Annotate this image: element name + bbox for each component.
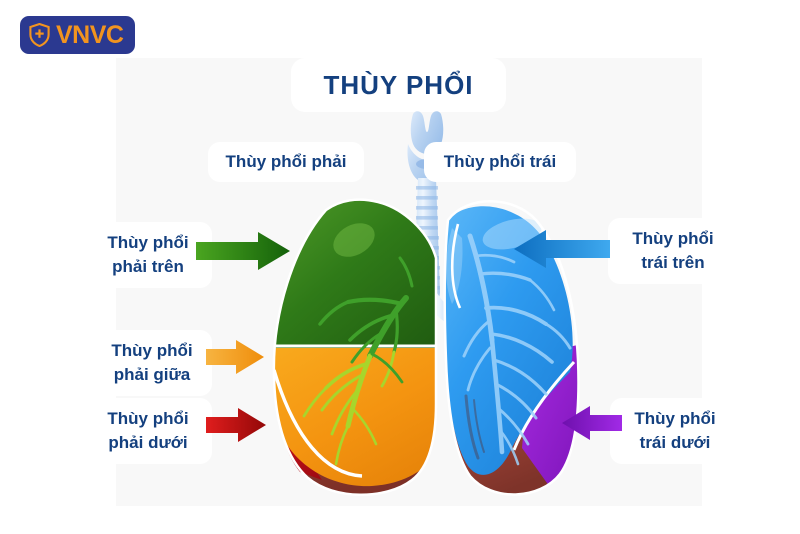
label-left-lower-line1: Thùy phổi <box>634 407 715 431</box>
shield-cross-icon <box>29 23 50 47</box>
arrow-left-purple-icon <box>560 404 622 442</box>
label-right-upper-line2: phải trên <box>112 255 184 279</box>
label-left-lower-lobe: Thùy phổi trái dưới <box>610 398 740 464</box>
label-right-upper-lobe: Thùy phổi phải trên <box>84 222 212 288</box>
label-left-lung-text: Thùy phổi trái <box>444 150 556 174</box>
page-title-text: THÙY PHỔI <box>323 70 473 101</box>
label-left-upper-line1: Thùy phổi <box>632 227 713 251</box>
label-left-lung: Thùy phổi trái <box>424 142 576 182</box>
page-title: THÙY PHỔI <box>291 58 506 112</box>
arrow-right-red-icon <box>206 406 268 444</box>
label-right-lung-text: Thùy phổi phải <box>226 150 347 174</box>
label-right-middle-line2: phải giữa <box>114 363 191 387</box>
arrow-left-blue-icon <box>512 228 610 270</box>
vnvc-logo-text: VNVC <box>56 23 123 48</box>
arrow-right-orange-icon <box>206 338 266 376</box>
vnvc-logo[interactable]: VNVC <box>20 16 135 54</box>
arrow-right-green-icon <box>196 230 292 272</box>
diagram-page: VNVC THÙY PHỔI <box>0 0 800 534</box>
label-right-lower-lobe: Thùy phổi phải dưới <box>84 398 212 464</box>
label-right-lung: Thùy phổi phải <box>208 142 364 182</box>
label-left-upper-lobe: Thùy phổi trái trên <box>608 218 738 284</box>
label-right-lower-line1: Thùy phổi <box>107 407 188 431</box>
label-right-lower-line2: phải dưới <box>108 431 187 455</box>
label-left-upper-line2: trái trên <box>641 251 704 275</box>
label-left-lower-line2: trái dưới <box>640 431 711 455</box>
label-right-middle-line1: Thùy phổi <box>111 339 192 363</box>
label-right-middle-lobe: Thùy phổi phải giữa <box>92 330 212 396</box>
label-right-upper-line1: Thùy phổi <box>107 231 188 255</box>
